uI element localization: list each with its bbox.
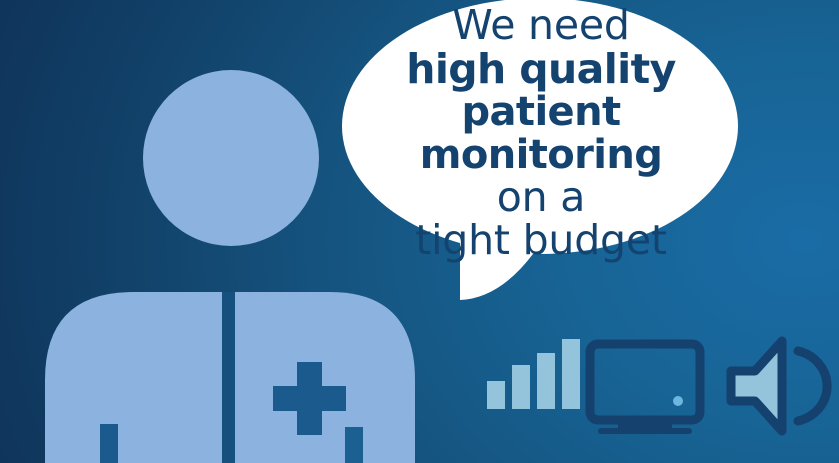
bubble-line-5: tight budget xyxy=(415,219,667,262)
signal-bars-icon xyxy=(487,339,580,409)
monitor-icon xyxy=(590,344,700,434)
feature-icon-row xyxy=(470,335,839,445)
speaker-icon xyxy=(731,341,827,431)
coat-right-pocket xyxy=(345,427,363,463)
coat-left-pocket xyxy=(100,424,118,463)
bubble-line-1: We need xyxy=(452,4,629,47)
monitor-led-icon xyxy=(673,396,683,406)
speech-bubble-text: We need high quality patient monitoring … xyxy=(356,26,726,241)
doctor-head xyxy=(143,70,319,246)
bubble-line-3: patient monitoring xyxy=(356,91,726,176)
sound-wave-icon xyxy=(798,351,827,421)
coat-center-line xyxy=(222,292,235,463)
bubble-line-4: on a xyxy=(497,176,585,219)
bubble-line-2: high quality xyxy=(406,48,676,91)
poster-canvas: We need high quality patient monitoring … xyxy=(0,0,839,463)
